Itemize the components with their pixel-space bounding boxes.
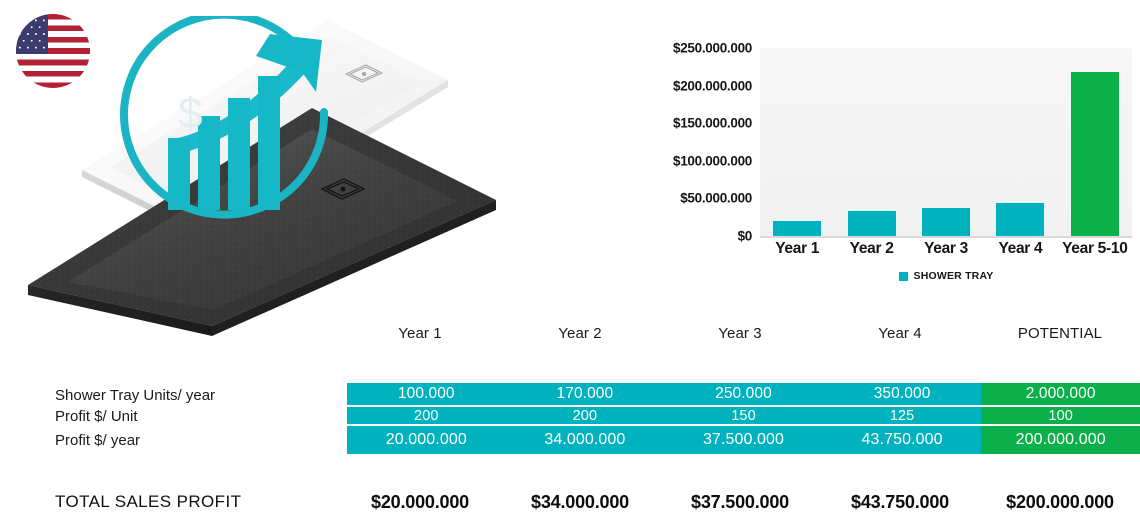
- y-tick-1: $50.000.000: [680, 191, 752, 206]
- bar-year-4[interactable]: [995, 202, 1045, 236]
- cell-year-profit-year-3: 37.500.000: [664, 426, 823, 454]
- bar-year-5-10[interactable]: [1070, 71, 1120, 236]
- bar-year-2[interactable]: [847, 210, 897, 237]
- cell-unit-profit-year-3: 150: [664, 407, 823, 424]
- cell-units-year-4: 350.000: [823, 383, 982, 405]
- chart-legend: SHOWER TRAY: [760, 270, 1132, 282]
- column-header-year-3: Year 3: [660, 325, 820, 351]
- product-illustration: $: [0, 0, 520, 330]
- column-header-year-1: Year 1: [340, 325, 500, 351]
- column-header-year-2: Year 2: [500, 325, 660, 351]
- cell-units-potential: 2.000.000: [981, 383, 1140, 405]
- chart-baseline: [760, 236, 1132, 238]
- cell-units-year-2: 170.000: [506, 383, 665, 405]
- row-label-profit-per-year: Profit $/ year: [55, 433, 140, 448]
- usa-flag-icon: [16, 14, 90, 88]
- bar-year-3[interactable]: [921, 207, 971, 236]
- column-header-year-4: Year 4: [820, 325, 980, 351]
- table-row: 20.000.000 34.000.000 37.500.000 43.750.…: [347, 426, 1140, 454]
- bar-slot-year-5-10: [1058, 48, 1132, 236]
- legend-swatch-icon: [899, 272, 908, 281]
- bar-year-1[interactable]: [772, 220, 822, 236]
- cell-unit-profit-year-4: 125: [823, 407, 982, 424]
- table-data-grid: 100.000 170.000 250.000 350.000 2.000.00…: [347, 383, 1140, 454]
- row-label-profit-per-unit: Profit $/ Unit: [55, 409, 138, 424]
- cell-units-year-3: 250.000: [664, 383, 823, 405]
- y-tick-5: $250.000.000: [673, 41, 752, 56]
- x-tick-year-1: Year 1: [760, 240, 834, 258]
- chart-bars: [760, 48, 1132, 236]
- x-tick-year-3: Year 3: [909, 240, 983, 258]
- y-tick-0: $0: [738, 229, 752, 244]
- cell-year-profit-year-1: 20.000.000: [347, 426, 506, 454]
- column-header-potential: POTENTIAL: [980, 325, 1140, 351]
- sales-bar-chart: $0 $50.000.000 $100.000.000 $150.000.000…: [648, 4, 1140, 289]
- total-sales-profit-row: TOTAL SALES PROFIT $20.000.000 $34.000.0…: [0, 487, 1140, 517]
- cell-unit-profit-year-1: 200: [347, 407, 506, 424]
- cell-units-year-1: 100.000: [347, 383, 506, 405]
- x-tick-year-4: Year 4: [983, 240, 1057, 258]
- cell-year-profit-year-2: 34.000.000: [506, 426, 665, 454]
- growth-dollar-badge: $: [110, 16, 350, 256]
- dollar-symbol: $: [178, 89, 202, 138]
- y-tick-4: $200.000.000: [673, 78, 752, 93]
- bar-slot-year-1: [760, 48, 834, 236]
- total-year-4: $43.750.000: [820, 487, 980, 517]
- cell-year-profit-year-4: 43.750.000: [823, 426, 982, 454]
- x-tick-year-2: Year 2: [834, 240, 908, 258]
- flag-stars: [16, 14, 48, 54]
- slide-root: $ $0 $50.000.000 $100.000.000 $150.000.0…: [0, 0, 1140, 523]
- cell-unit-profit-year-2: 200: [506, 407, 665, 424]
- chart-y-axis: $0 $50.000.000 $100.000.000 $150.000.000…: [648, 4, 756, 240]
- table-column-headers: Year 1 Year 2 Year 3 Year 4 POTENTIAL: [340, 325, 1140, 351]
- total-potential: $200.000.000: [980, 487, 1140, 517]
- total-values: $20.000.000 $34.000.000 $37.500.000 $43.…: [340, 487, 1140, 517]
- legend-label-shower-tray: SHOWER TRAY: [914, 270, 994, 282]
- cell-unit-profit-potential: 100: [981, 407, 1140, 424]
- total-year-3: $37.500.000: [660, 487, 820, 517]
- total-label: TOTAL SALES PROFIT: [55, 487, 241, 517]
- y-tick-3: $150.000.000: [673, 116, 752, 131]
- table-row: 200 200 150 125 100: [347, 407, 1140, 424]
- chart-x-axis: Year 1 Year 2 Year 3 Year 4 Year 5-10: [760, 240, 1132, 258]
- table-row: 100.000 170.000 250.000 350.000 2.000.00…: [347, 383, 1140, 405]
- total-year-1: $20.000.000: [340, 487, 500, 517]
- bar-slot-year-4: [983, 48, 1057, 236]
- bar-slot-year-2: [834, 48, 908, 236]
- x-tick-year-5-10: Year 5-10: [1058, 240, 1132, 258]
- row-label-shower-tray-units: Shower Tray Units/ year: [55, 388, 215, 403]
- total-year-2: $34.000.000: [500, 487, 660, 517]
- bar-slot-year-3: [909, 48, 983, 236]
- y-tick-2: $100.000.000: [673, 153, 752, 168]
- cell-year-profit-potential: 200.000.000: [981, 426, 1140, 454]
